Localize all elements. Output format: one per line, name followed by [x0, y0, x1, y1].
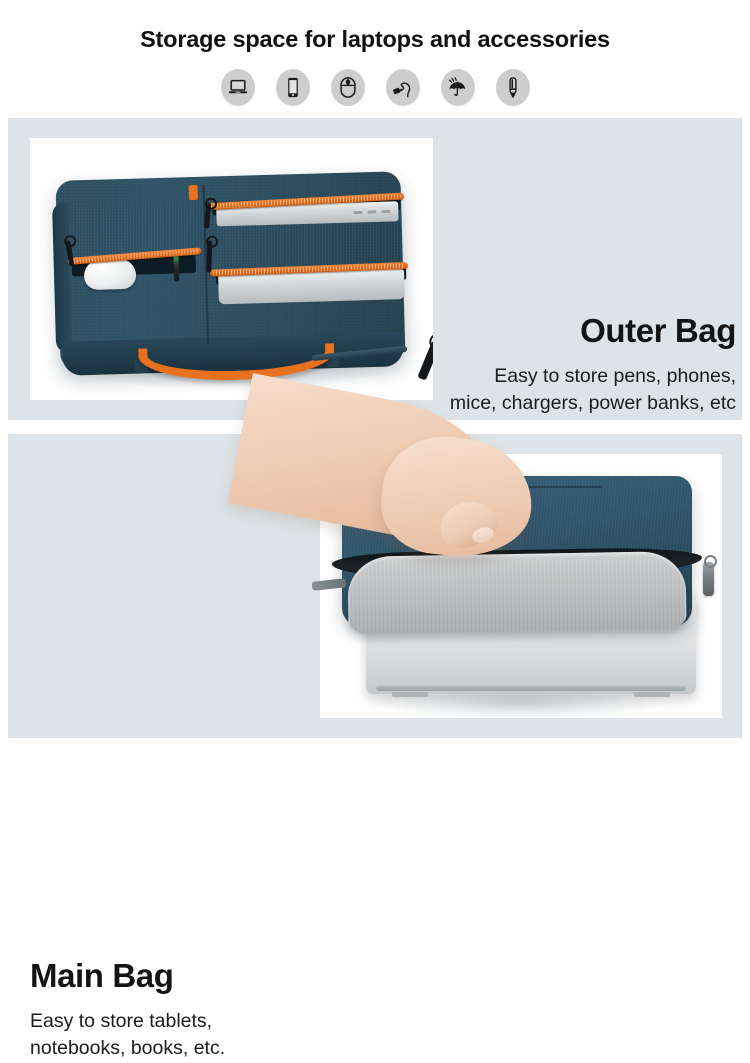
header: Storage space for laptops and accessorie…	[0, 0, 750, 112]
main-bag-copy: Main Bag Easy to store tablets, notebook…	[30, 959, 310, 1063]
orange-loop-tab	[189, 185, 198, 200]
laptop-sleeve-flatlay	[55, 171, 405, 371]
mouse-in-pocket	[84, 259, 137, 290]
outer-bag-description: Easy to store pens, phones, mice, charge…	[448, 363, 736, 418]
main-bag-heading: Main Bag	[30, 959, 310, 994]
laptop-icon	[221, 69, 255, 106]
outer-bag-photo	[30, 138, 433, 400]
outer-bag-heading: Outer Bag	[448, 314, 736, 349]
main-bag-description: Easy to store tablets, notebooks, books,…	[30, 1008, 310, 1063]
charger-icon	[386, 69, 420, 106]
pen-icon	[496, 69, 530, 106]
mouse-icon	[331, 69, 365, 106]
pen-in-pocket	[174, 255, 180, 281]
main-zipper-pull	[417, 340, 433, 380]
lower-pocket-zip-pull	[206, 241, 212, 273]
grey-padded-lining	[347, 551, 686, 635]
right-metal-zip-pull	[703, 562, 714, 596]
outer-bag-panel: Outer Bag Easy to store pens, phones, mi…	[8, 118, 742, 420]
feature-icon-row	[0, 69, 750, 106]
outer-bag-copy: Outer Bag Easy to store pens, phones, mi…	[448, 314, 736, 418]
main-bag-panel: Main Bag Easy to store tablets, notebook…	[8, 434, 742, 738]
page-title: Storage space for laptops and accessorie…	[0, 26, 750, 53]
smartphone-icon	[276, 69, 310, 106]
umbrella-icon	[441, 69, 475, 106]
main-bag-photo	[320, 454, 722, 718]
